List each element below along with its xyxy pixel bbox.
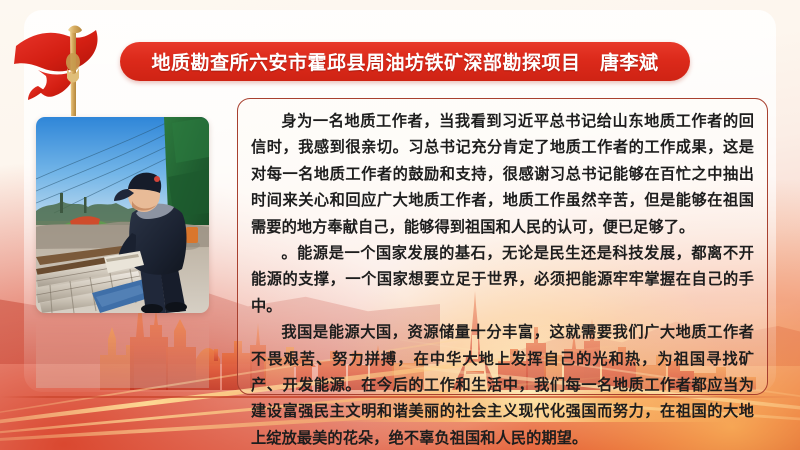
paragraph-1: 身为一名地质工作者，当我看到习近平总书记给山东地质工作者的回信时，我感到很亲切。… bbox=[251, 108, 754, 240]
field-photo bbox=[36, 117, 209, 313]
paragraph-2: 。能源是一个国家发展的基石，无论是民生还是科技发展，都离不开能源的支撑，一个国家… bbox=[251, 240, 754, 319]
slide-root: 地质勘查所六安市霍邱县周油坊铁矿深部勘探项目 唐李斌 bbox=[0, 0, 800, 450]
photo-block bbox=[36, 117, 209, 313]
paragraph-3: 我国是能源大国，资源储量十分丰富，这就需要我们广大地质工作者不畏艰苦、努力拼搏，… bbox=[251, 319, 754, 450]
body-textbox: 身为一名地质工作者，当我看到习近平总书记给山东地质工作者的回信时，我感到很亲切。… bbox=[237, 98, 768, 395]
field-photo-image bbox=[36, 117, 209, 313]
red-flag-emblem-icon bbox=[4, 16, 122, 128]
title-banner: 地质勘查所六安市霍邱县周油坊铁矿深部勘探项目 唐李斌 bbox=[120, 42, 690, 81]
body-text: 身为一名地质工作者，当我看到习近平总书记给山东地质工作者的回信时，我感到很亲切。… bbox=[251, 108, 754, 450]
photo-reflection bbox=[36, 316, 209, 388]
page-title: 地质勘查所六安市霍邱县周油坊铁矿深部勘探项目 唐李斌 bbox=[151, 48, 658, 75]
photo-reflection-image bbox=[36, 316, 209, 388]
